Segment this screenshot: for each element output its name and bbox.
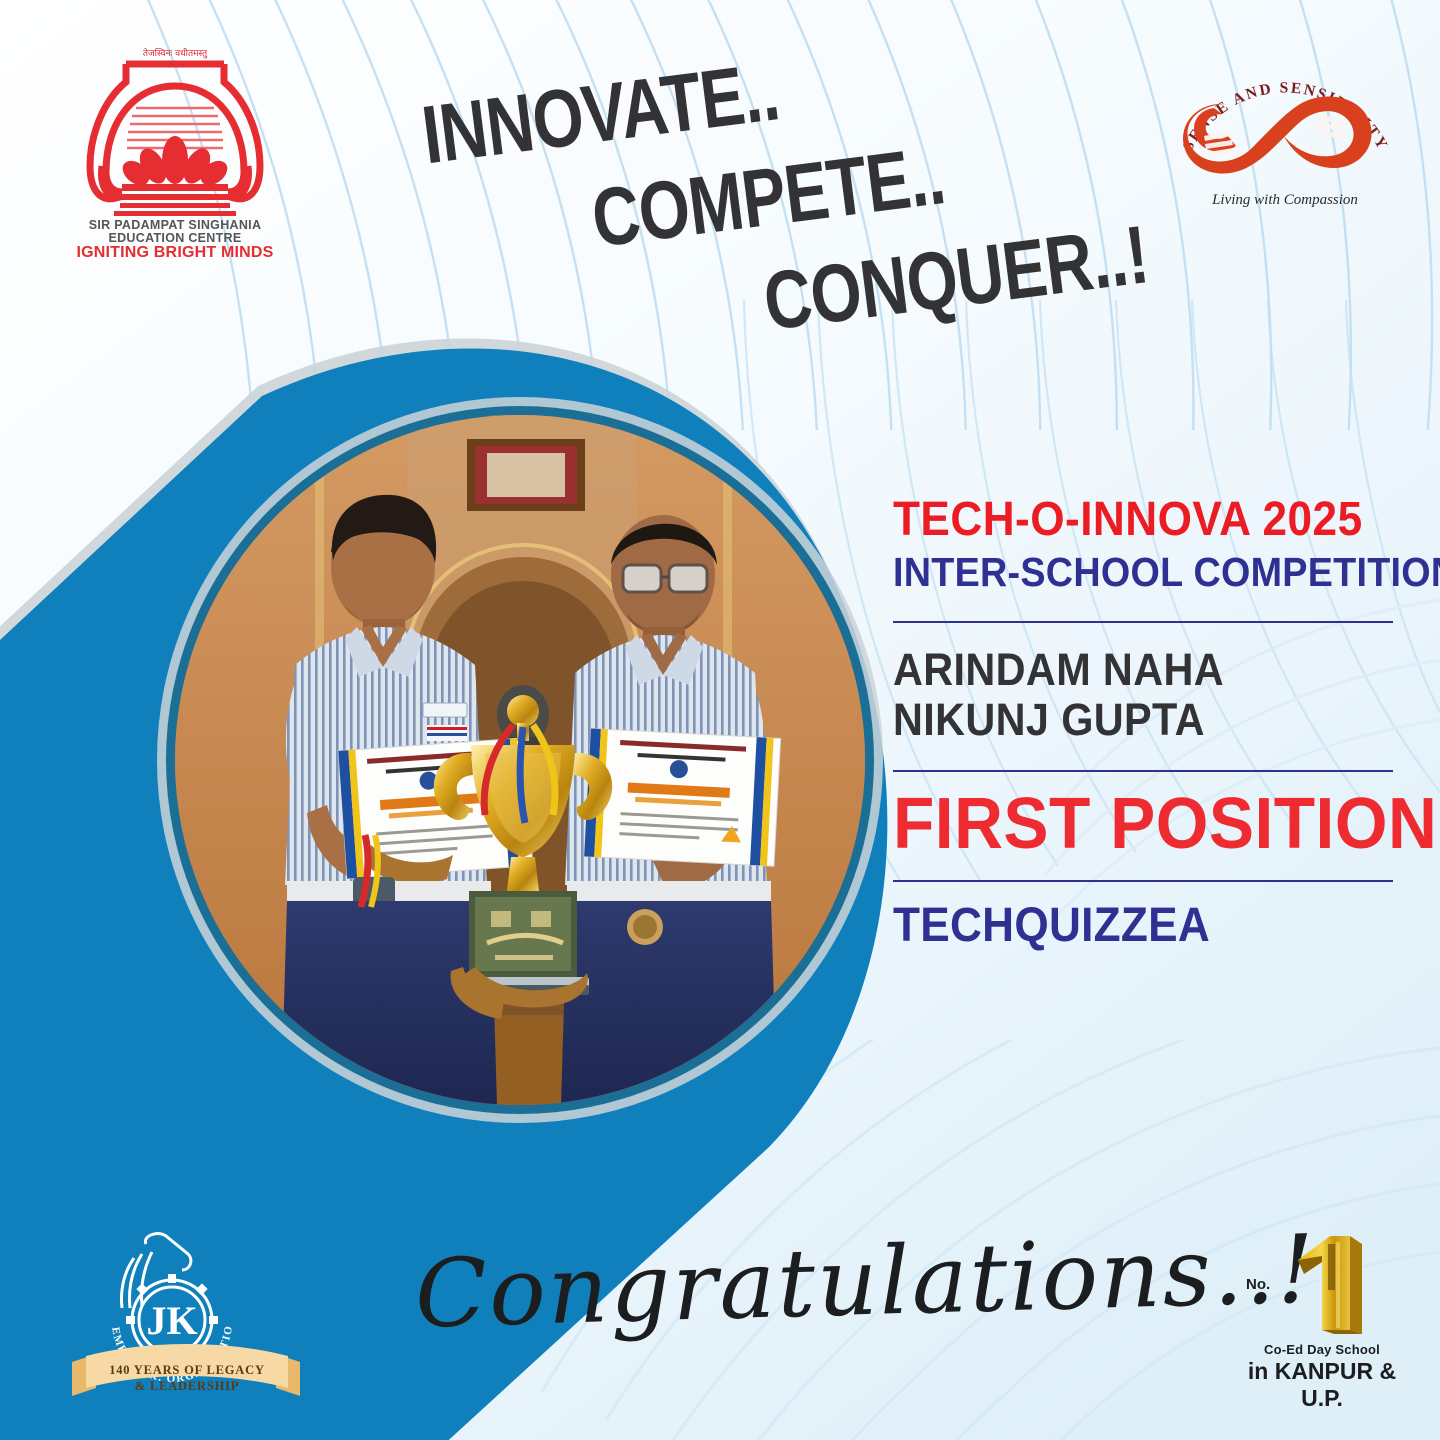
winners-photo (175, 415, 865, 1105)
divider-1 (893, 621, 1393, 623)
winner-name-1: ARINDAM NAHA (893, 645, 1353, 695)
category-label: TECHQUIZZEA (893, 902, 1353, 950)
event-title: TECH-O-INNOVA 2025 (893, 495, 1353, 546)
no1-school-badge: No. Co-Ed Day School (1232, 1232, 1412, 1382)
no1-row: No. (1232, 1232, 1412, 1342)
winners-photo-illustration (175, 415, 865, 1105)
sense-sensibility-logo: SENSE AND SENSIBILITY Living with Compas… (1168, 52, 1403, 212)
school-logo-sanskrit-motto: तेजस्विनः वधीतमस्तु (143, 47, 208, 59)
school-logo-name-2: EDUCATION CENTRE (108, 231, 241, 245)
no1-prefix: No. (1246, 1276, 1270, 1293)
jk-ribbon-line-2: & LEADERSHIP (135, 1379, 239, 1393)
divider-2 (893, 770, 1393, 772)
no1-line-1: Co-Ed Day School (1232, 1342, 1412, 1357)
sense-sensibility-tagline: Living with Compassion (1211, 192, 1358, 208)
school-logo-tagline: IGNITING BRIGHT MINDS (76, 244, 273, 257)
award-details-block: TECH-O-INNOVA 2025 INTER-SCHOOL COMPETIT… (893, 495, 1393, 950)
event-subtitle: INTER-SCHOOL COMPETITION (893, 550, 1353, 595)
jk-monogram: JK (146, 1298, 197, 1343)
no1-line-2: in KANPUR & U.P. (1224, 1358, 1420, 1412)
position-label: FIRST POSITION (893, 788, 1363, 860)
school-logo: तेजस्विनः वधीतमस्तु SIR PADAMPAT (60, 42, 290, 257)
winner-name-2: NIKUNJ GUPTA (893, 695, 1353, 745)
lotus-icon (118, 136, 232, 190)
poster-canvas: INNOVATE.. COMPETE.. CONQUER..! TECH-O-I… (0, 0, 1440, 1440)
school-logo-name-1: SIR PADAMPAT SINGHANIA (89, 218, 262, 232)
jk-organisation-logo: JK MEMBER J.K. ORGANISATION 140 YEARS OF… (62, 1228, 312, 1408)
jk-ribbon-line-1: 140 YEARS OF LEGACY (109, 1363, 265, 1377)
divider-3 (893, 880, 1393, 882)
gold-number-one-icon (1278, 1234, 1368, 1342)
